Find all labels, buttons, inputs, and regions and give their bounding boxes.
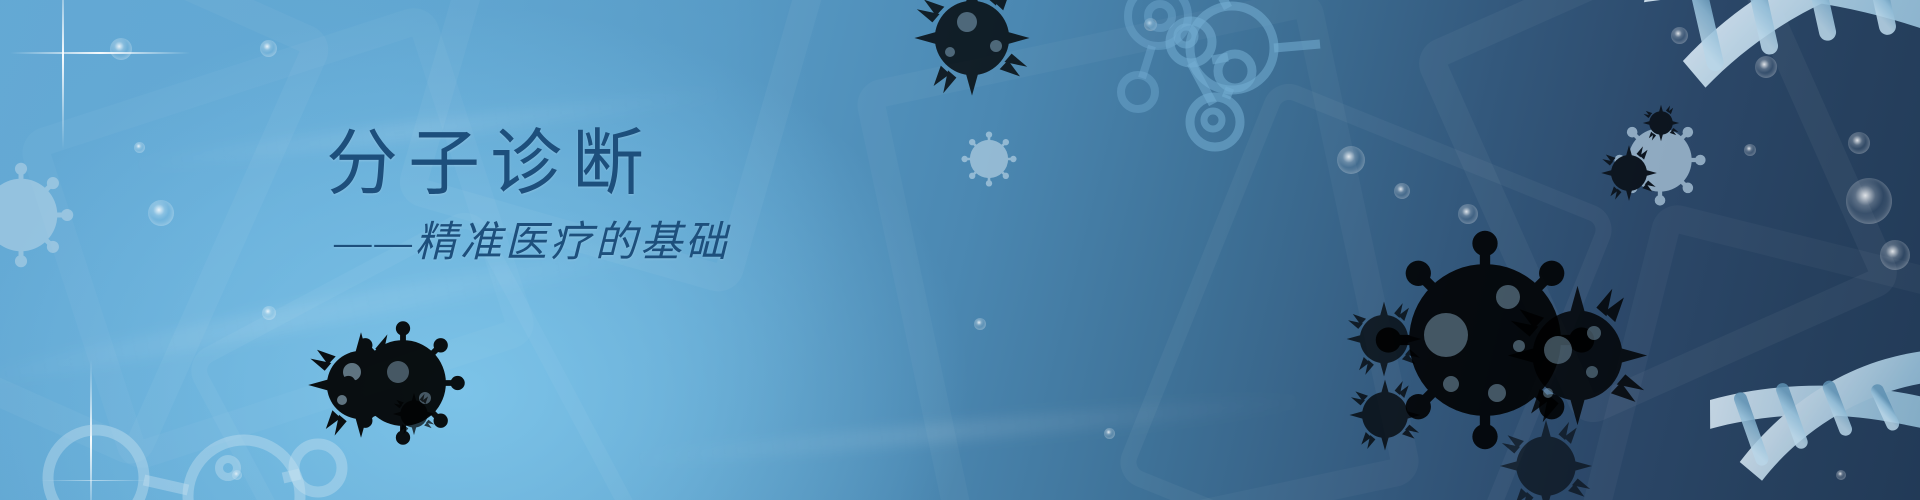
bubble <box>974 318 986 330</box>
sparkle-bottom-left <box>40 360 160 500</box>
page-subtitle: ——精准医疗的基础 <box>0 220 980 266</box>
bubble <box>110 38 132 60</box>
bubble <box>1394 183 1410 199</box>
bubble <box>1846 178 1892 224</box>
bubble <box>262 306 276 320</box>
page-title: 分子诊断 <box>0 126 980 202</box>
bubble <box>232 470 242 480</box>
bubble <box>1104 428 1115 439</box>
bubble <box>1836 470 1846 480</box>
bubble <box>1337 146 1365 174</box>
bubble <box>1671 27 1688 44</box>
bubble <box>1744 144 1756 156</box>
bubble <box>1848 132 1870 154</box>
title-block: 分子诊断 ——精准医疗的基础 <box>0 126 980 267</box>
bubble <box>1880 240 1910 270</box>
bubble <box>260 40 277 57</box>
molecular-diagnostics-banner: 分子诊断 ——精准医疗的基础 <box>0 0 1920 500</box>
bubble <box>1755 56 1777 78</box>
bubble <box>1144 18 1157 31</box>
bubble <box>1458 204 1478 224</box>
